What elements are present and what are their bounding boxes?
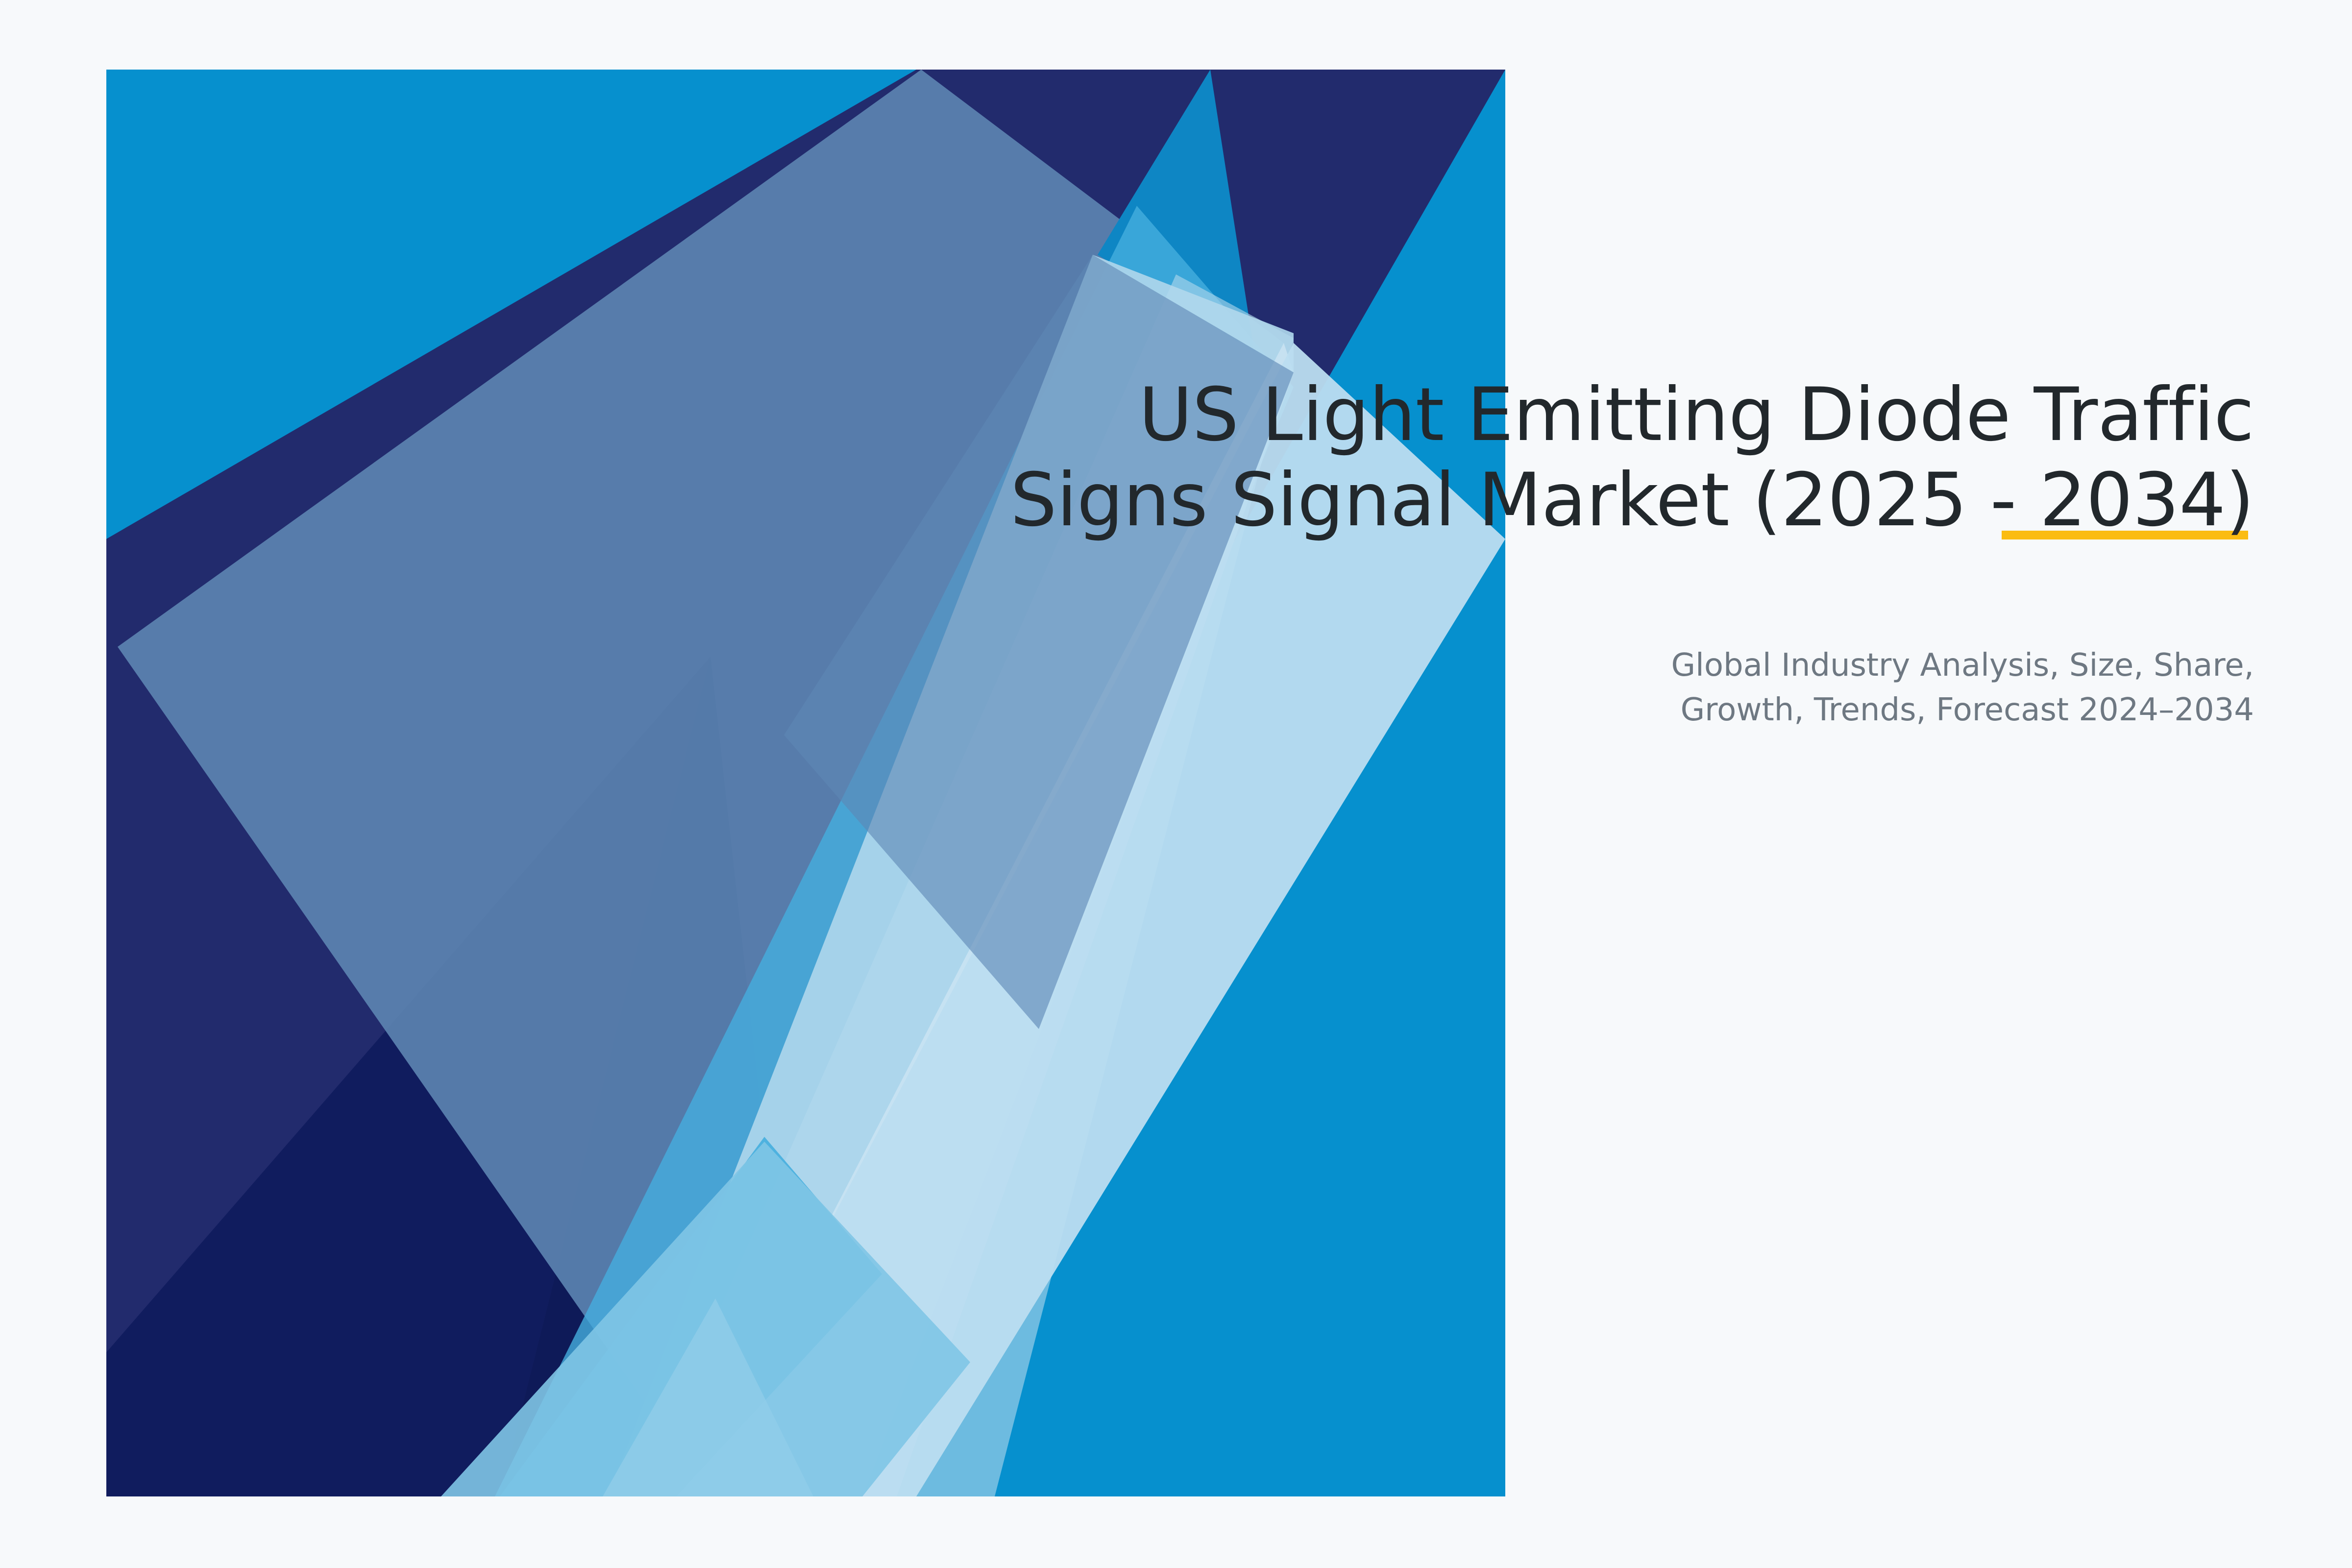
polygon-collage-svg <box>0 0 2352 1568</box>
page-subtitle: Global Industry Analysis, Size, Share, G… <box>980 543 2254 733</box>
cover-text-block: US Light Emitting Diode Traffic Signs Si… <box>980 372 2254 733</box>
decorative-artwork <box>0 0 2352 1568</box>
cover-canvas: US Light Emitting Diode Traffic Signs Si… <box>0 0 2352 1568</box>
page-title: US Light Emitting Diode Traffic Signs Si… <box>980 372 2254 543</box>
